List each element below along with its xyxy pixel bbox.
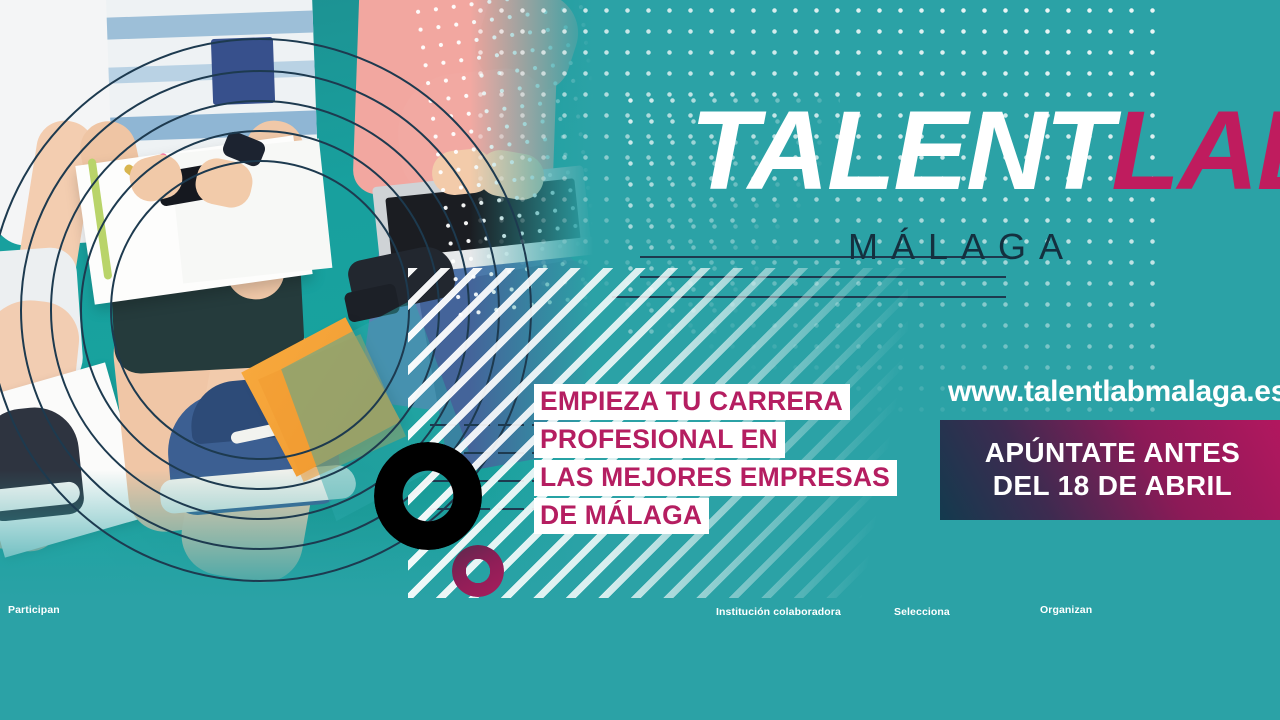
- headline-line-2: PROFESIONAL EN: [534, 422, 785, 458]
- label-participan: Participan: [8, 604, 60, 616]
- talentlab-malaga-banner: TALENTLAB MÁLAGA EMPIEZA TU CARRERA PROF…: [0, 0, 1280, 720]
- signup-deadline-box[interactable]: APÚNTATE ANTES DEL 18 DE ABRIL: [940, 420, 1280, 520]
- website-url[interactable]: www.talentlabmalaga.es: [948, 375, 1280, 409]
- headline-line-4: DE MÁLAGA: [534, 498, 709, 534]
- talentlab-logo: TALENTLAB MÁLAGA: [690, 92, 1270, 282]
- cta-line-1: APÚNTATE ANTES: [985, 437, 1241, 470]
- label-selecciona: Selecciona: [894, 606, 950, 618]
- headline-line-3: LAS MEJORES EMPRESAS: [534, 460, 897, 496]
- cta-line-2: DEL 18 DE ABRIL: [993, 470, 1232, 503]
- person2-pocket: [211, 37, 275, 105]
- logo-wordmark: TALENTLAB: [690, 92, 1270, 222]
- headline-line-1: EMPIEZA TU CARRERA: [534, 384, 850, 420]
- logo-subtitle: MÁLAGA: [848, 226, 1076, 268]
- logo-talent-text: TALENT: [690, 88, 1111, 213]
- sponsor-footer: Participan Institución colaboradora Sele…: [0, 596, 1280, 720]
- photo-fade-bottom: [0, 470, 600, 600]
- headline-block: EMPIEZA TU CARRERA PROFESIONAL EN LAS ME…: [534, 384, 954, 536]
- label-organizan: Organizan: [1040, 604, 1092, 616]
- label-institucion: Institución colaboradora: [716, 606, 841, 618]
- students-photo: [0, 0, 600, 600]
- logo-lab-text: LAB: [1111, 88, 1280, 213]
